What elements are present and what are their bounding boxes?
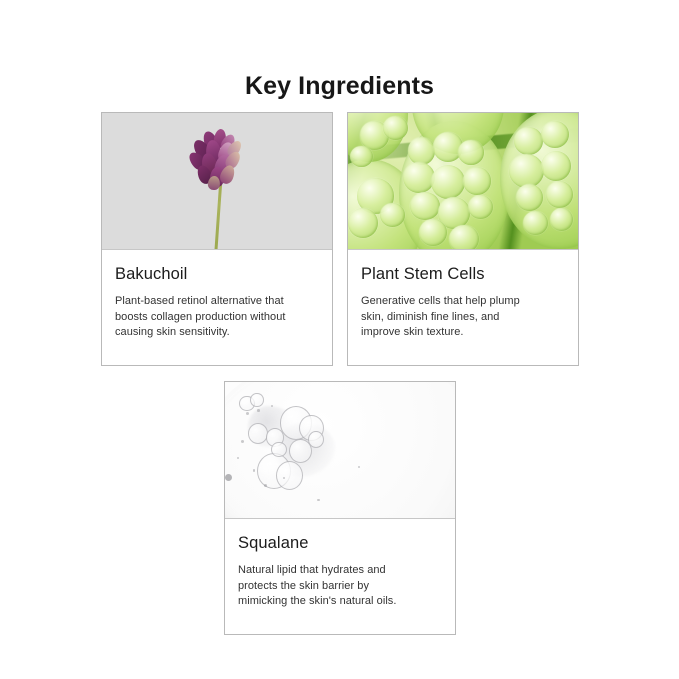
flower-head: [186, 131, 248, 189]
squalane-gel-droplet-photo: [225, 382, 455, 518]
ingredient-image-squalane: [225, 382, 455, 519]
ingredient-description: Generative cells that help plump skin, d…: [361, 294, 565, 341]
ingredient-card-plant-stem-cells[interactable]: Plant Stem Cells Generative cells that h…: [347, 112, 579, 366]
ingredient-card-squalane[interactable]: Squalane Natural lipid that hydrates and…: [224, 381, 456, 635]
plant-stem-cells-micrograph: [348, 113, 578, 249]
ingredient-image-plant-stem-cells: [348, 113, 578, 250]
page-title: Key Ingredients: [0, 70, 679, 102]
ingredients-page: Key Ingredients: [0, 0, 679, 679]
ingredient-card-bakuchoil[interactable]: Bakuchoil Plant-based retinol alternativ…: [101, 112, 333, 366]
ingredient-image-bakuchoil: [102, 113, 332, 250]
ingredient-title: Bakuchoil: [115, 263, 319, 285]
ingredient-title: Plant Stem Cells: [361, 263, 565, 285]
ingredient-text-bakuchoil: Bakuchoil Plant-based retinol alternativ…: [102, 250, 332, 341]
ingredient-title: Squalane: [238, 532, 442, 554]
ingredient-text-squalane: Squalane Natural lipid that hydrates and…: [225, 519, 455, 610]
ingredient-description: Natural lipid that hydrates and protects…: [238, 563, 442, 610]
ingredient-description: Plant-based retinol alternative that boo…: [115, 294, 319, 341]
bakuchoil-flower-photo: [102, 113, 332, 249]
ingredient-text-plant-stem-cells: Plant Stem Cells Generative cells that h…: [348, 250, 578, 341]
